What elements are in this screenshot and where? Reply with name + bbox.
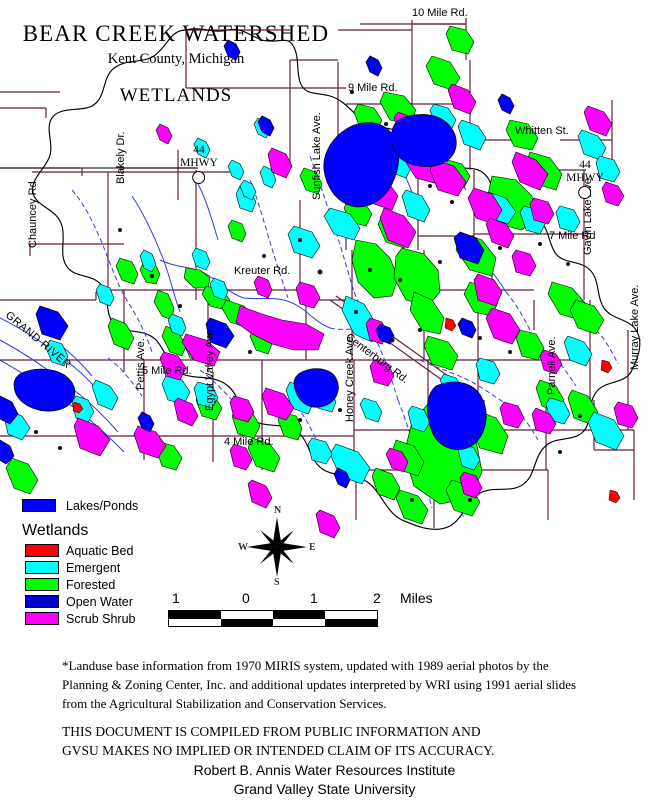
credit-institute: Robert B. Annis Water Resources Institut… (0, 761, 649, 780)
road-label-pettis-ave: Pettis Ave. (136, 338, 147, 390)
disclaimer-line-1: THIS DOCUMENT IS COMPILED FROM PUBLIC IN… (62, 722, 592, 741)
legend-item-aquatic-bed: Aquatic Bed (25, 543, 138, 558)
map-graphic (0, 0, 649, 560)
road-label-5-mile-rd: 5 Mile Rd. (142, 366, 192, 377)
legend-swatch-open-water (25, 595, 59, 608)
legend-item-open-water: Open Water (25, 594, 138, 609)
road-label-parnell-ave: Parnell Ave. (547, 336, 558, 395)
legend-item-forested: Forested (25, 577, 138, 592)
highway-shield-circle-icon (578, 186, 591, 199)
legend-item-lakes-ponds: Lakes/Ponds (22, 498, 138, 513)
disclaimer-line-2: GVSU MAKES NO IMPLIED OR INTENDED CLAIM … (62, 741, 592, 760)
road-label-blakely-dr: Blakely Dr. (116, 131, 127, 184)
compass-label-south: S (274, 577, 280, 588)
road-label-whitten-st: Whitten St. (515, 126, 569, 137)
credit-university: Grand Valley State University (0, 780, 649, 799)
road-label-4-mile-rd: 4 Mile Rd. (224, 437, 274, 448)
legend-wetland-items: Aquatic Bed Emergent Forested Open Water… (25, 543, 138, 626)
road-label-egypt-valley-ave: Egypt Valley Ave. (205, 326, 216, 411)
scale-cell-filled (221, 619, 273, 627)
road-label-sunfish-lake-ave: Sunfish Lake Ave. (312, 112, 323, 200)
compass-rose: N S E W (237, 503, 317, 587)
scale-bar-graphic (168, 610, 378, 627)
legend-label-scrub-shrub: Scrub Shrub (66, 612, 135, 626)
scale-cell-filled (273, 611, 325, 619)
legend-swatch-lakes-ponds (22, 499, 56, 512)
highway-designation: MHWY (180, 157, 218, 170)
scale-cell-filled (325, 619, 377, 627)
highway-shield-circle-icon (192, 171, 205, 184)
highway-number: 44 (180, 144, 218, 157)
compass-label-north: N (274, 505, 281, 516)
scale-tick-2: 2 (373, 590, 381, 606)
road-label-10-mile-rd: 10 Mile Rd. (412, 8, 468, 19)
scale-cell-filled (169, 611, 221, 619)
source-footnote: *Landuse base information from 1970 MIRI… (62, 657, 592, 714)
legend-label-emergent: Emergent (66, 561, 120, 575)
highway-line (0, 168, 586, 170)
road-label-kreuter-rd: Kreuter Rd. (234, 266, 290, 277)
legend-label-open-water: Open Water (66, 595, 133, 609)
legend-label-lakes-ponds: Lakes/Ponds (66, 499, 138, 513)
scale-bar-labels: 1 0 1 2 Miles (168, 590, 458, 608)
compass-label-west: W (238, 542, 248, 553)
scale-tick-1-east: 1 (310, 590, 318, 606)
legend-swatch-aquatic-bed (25, 544, 59, 557)
legend-heading-wetlands: Wetlands (22, 522, 138, 540)
legend-item-emergent: Emergent (25, 560, 138, 575)
road-label-chauncey-rd: Chauncey Rd. (28, 178, 39, 248)
disclaimer-text: THIS DOCUMENT IS COMPILED FROM PUBLIC IN… (62, 722, 592, 760)
legend-item-scrub-shrub: Scrub Shrub (25, 611, 138, 626)
map-legend: Lakes/Ponds Wetlands Aquatic Bed Emergen… (22, 498, 138, 628)
map-canvas[interactable]: 10 Mile Rd. 9 Mile Rd. Whitten St. 7 Mil… (0, 0, 649, 560)
scale-tick-0: 0 (242, 590, 250, 606)
compass-label-east: E (309, 542, 316, 553)
highway-marker-44-west: 44 MHWY (180, 144, 218, 184)
legend-swatch-forested (25, 578, 59, 591)
highway-designation: MHWY (566, 172, 604, 185)
credits: Robert B. Annis Water Resources Institut… (0, 761, 649, 799)
road-label-murray-lake-ave: Murray Lake Ave. (630, 285, 641, 370)
legend-label-forested: Forested (66, 578, 115, 592)
legend-swatch-scrub-shrub (25, 612, 59, 625)
scale-bar: 1 0 1 2 Miles (168, 590, 458, 627)
legend-label-aquatic-bed: Aquatic Bed (66, 544, 133, 558)
highway-number: 44 (566, 159, 604, 172)
scale-tick-1-west: 1 (172, 590, 180, 606)
highway-marker-44-east: 44 MHWY (566, 159, 604, 199)
road-label-9-mile-rd: 9 Mile Rd. (348, 83, 398, 94)
scale-units-label: Miles (400, 590, 433, 606)
legend-swatch-emergent (25, 561, 59, 574)
